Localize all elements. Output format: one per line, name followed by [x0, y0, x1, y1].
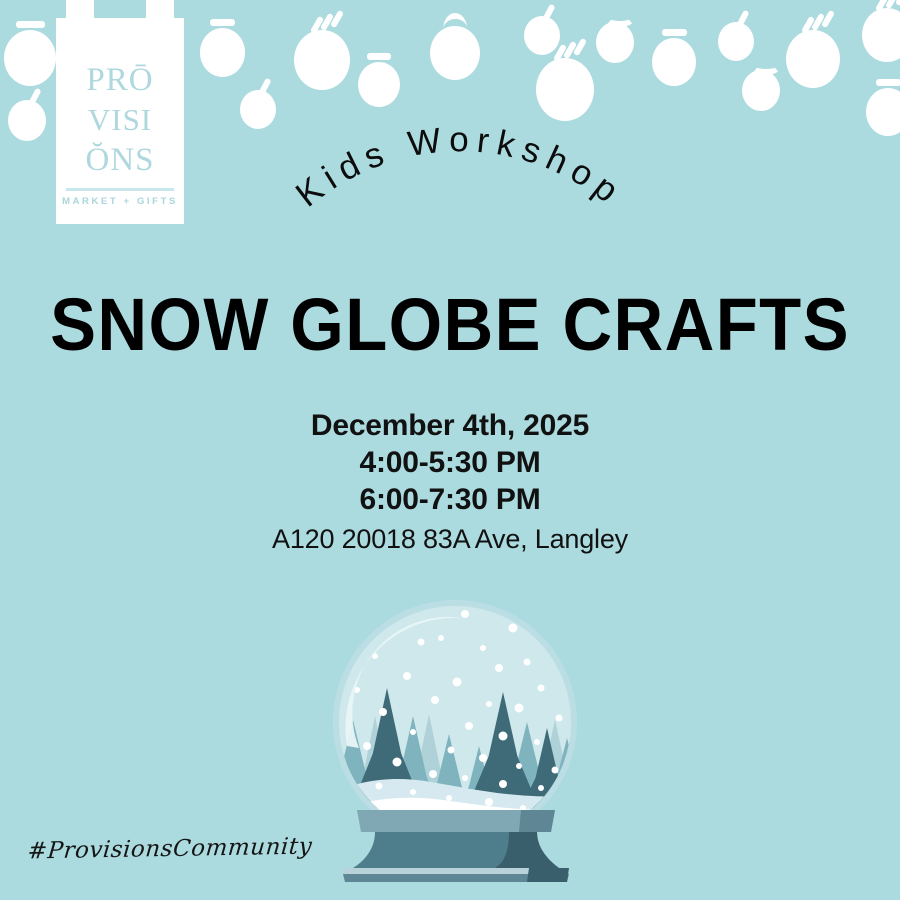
page-title: SNOW GLOBE CRAFTS: [32, 288, 869, 362]
logo-line-3: ŎNS: [56, 144, 184, 177]
ornament-ball: [652, 38, 696, 86]
event-address: A120 20018 83A Ave, Langley: [0, 523, 900, 556]
ornament-ball: [536, 58, 594, 121]
ornament-strokes-icon: [879, 0, 900, 12]
ornament-breve-icon: [605, 10, 635, 27]
event-session-2: 6:00-7:30 PM: [0, 482, 900, 519]
ornament-macron-icon: [367, 53, 391, 60]
ornament-ball: [4, 30, 56, 86]
event-details: December 4th, 2025 4:00-5:30 PM 6:00-7:3…: [0, 408, 900, 556]
logo-divider: [66, 188, 174, 191]
ornament-ball: [862, 8, 900, 62]
ornament-acute-icon: [28, 88, 41, 106]
globe-pedestal: [343, 810, 569, 882]
ornament-macron-icon: [662, 29, 687, 36]
ornament-strokes-icon: [314, 10, 354, 34]
ornament-acute-icon: [543, 4, 556, 22]
svg-text:Kids Workshop: Kids Workshop: [289, 120, 632, 215]
eyebrow-text: Kids Workshop: [289, 120, 632, 215]
ornament-macron-icon: [16, 21, 45, 28]
ornament-macron-icon: [876, 79, 900, 86]
ornament-strokes-icon: [557, 38, 597, 62]
snow-globe-illustration: [313, 596, 598, 886]
event-date: December 4th, 2025: [0, 408, 900, 445]
ornament-acute-icon: [259, 78, 272, 96]
ornament-ball: [596, 22, 634, 63]
community-hashtag: #ProvisionsCommunity: [27, 834, 314, 865]
ornament-breve-icon: [751, 58, 781, 75]
ornament-ball: [358, 62, 400, 107]
pedestal-rim-shadow: [527, 868, 569, 882]
ornament-tilde-icon: [443, 13, 468, 30]
logo-tagline: MARKET + GIFTS: [56, 196, 184, 207]
ornament-ball: [430, 26, 480, 80]
ornament-ball: [866, 88, 900, 136]
ornament-acute-icon: [737, 10, 750, 28]
ornament-ball: [8, 100, 46, 141]
ornament-ball: [786, 30, 840, 88]
logo-line-1: PRŌ: [56, 64, 184, 97]
poster-canvas: PRŌ VISI ŎNS MARKET + GIFTS Kids Worksho…: [0, 0, 900, 900]
ornament-ball: [240, 90, 276, 129]
ornament-ball: [524, 16, 560, 55]
ornament-macron-icon: [210, 19, 235, 26]
ornament-ball: [294, 30, 350, 90]
pedestal-top-shadow: [519, 810, 555, 832]
eyebrow-arc: Kids Workshop: [250, 155, 670, 285]
provisions-logo: PRŌ VISI ŎNS MARKET + GIFTS: [56, 0, 184, 224]
ornament-ball: [200, 28, 245, 77]
event-session-1: 4:00-5:30 PM: [0, 445, 900, 482]
ornament-ball: [718, 22, 754, 61]
logo-line-2: VISI: [56, 104, 184, 135]
ornament-strokes-icon: [805, 10, 845, 34]
ornament-ball: [742, 70, 780, 111]
